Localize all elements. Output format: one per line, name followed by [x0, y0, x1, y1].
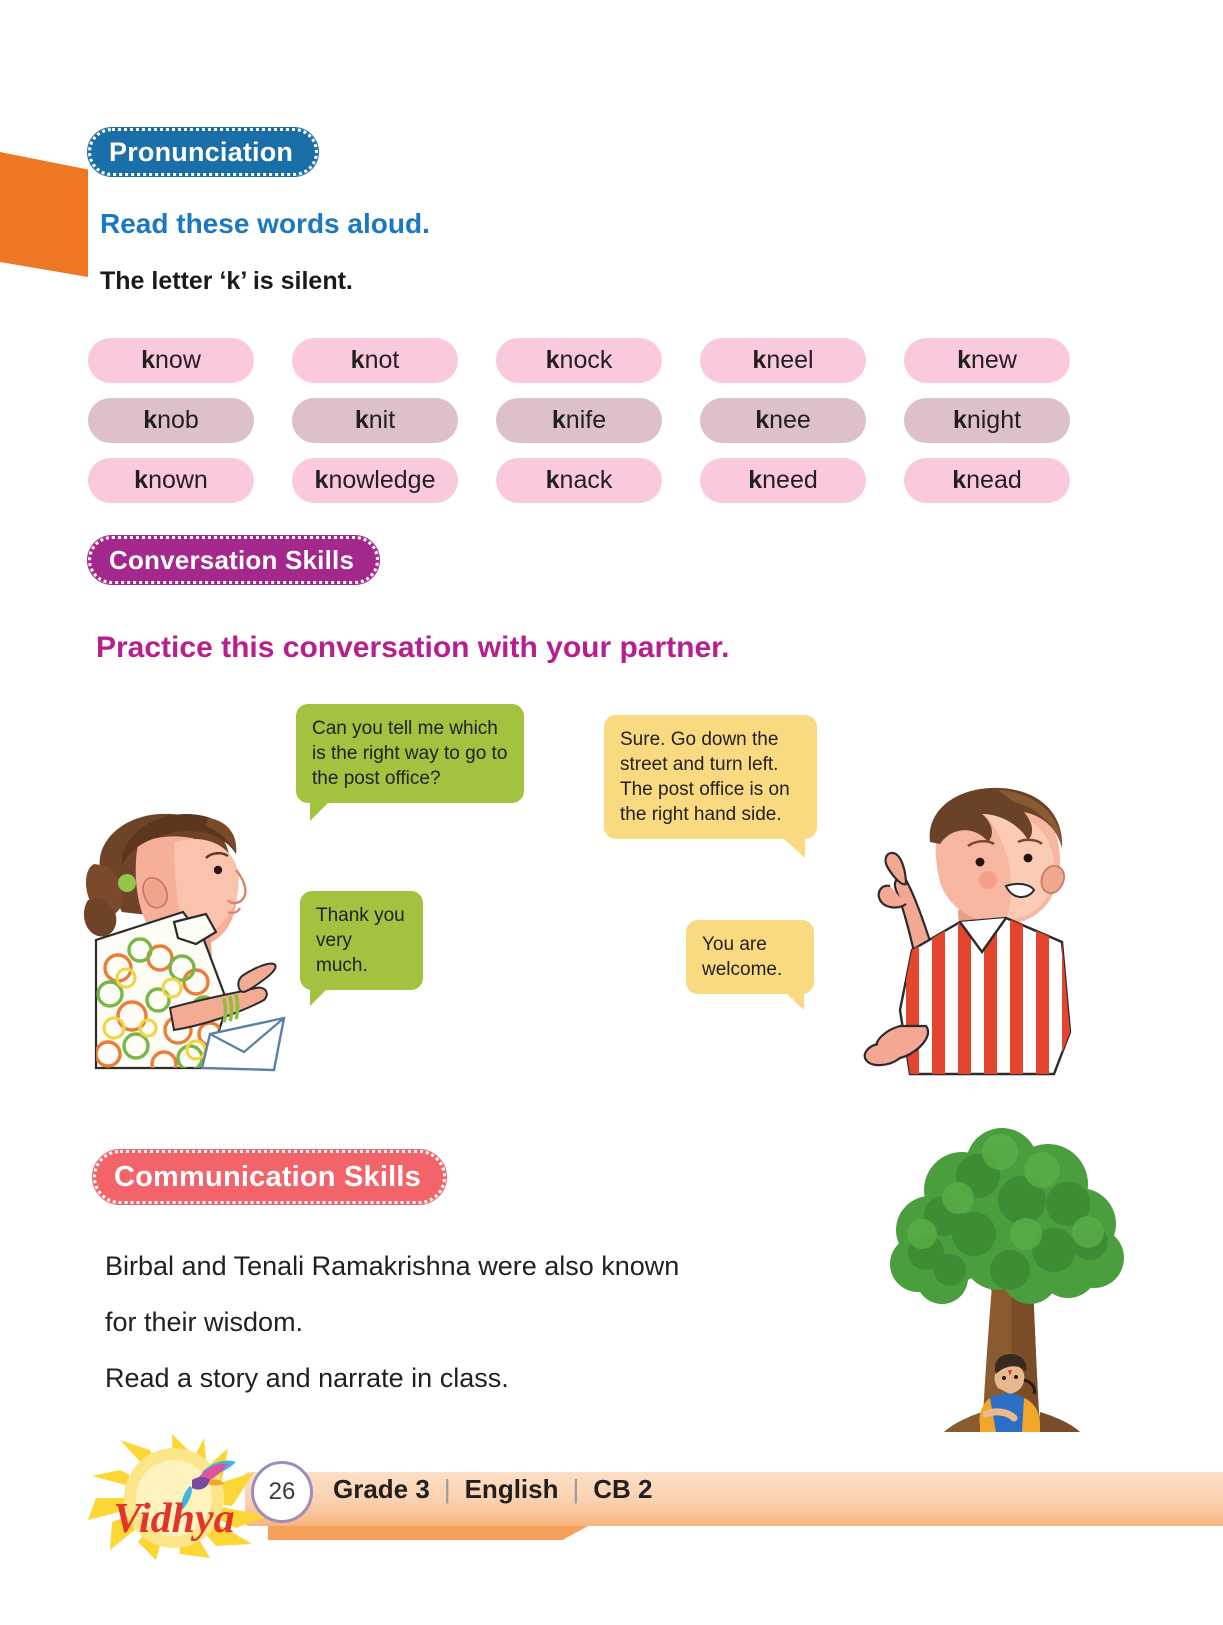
word-remainder: not: [365, 346, 400, 375]
word-remainder: neel: [766, 346, 813, 375]
word-pill[interactable]: knee: [700, 398, 866, 443]
speech-bubble-answer: Sure. Go down the street and turn left. …: [604, 715, 817, 839]
word-pill[interactable]: knit: [292, 398, 458, 443]
communication-line: Read a story and narrate in class.: [105, 1350, 805, 1406]
speech-bubble-welcome: You are welcome.: [686, 920, 814, 994]
vidhya-logo: Vidhya: [86, 1432, 271, 1569]
tree-with-seated-boy-illustration: [882, 1112, 1144, 1439]
conversation-heading: Practice this conversation with your par…: [96, 631, 730, 665]
communication-text: Birbal and Tenali Ramakrishna were also …: [105, 1238, 805, 1406]
pronunciation-heading: Read these words aloud.: [100, 208, 430, 240]
word-pill[interactable]: knife: [496, 398, 662, 443]
word-remainder: night: [967, 406, 1021, 435]
word-pill-grid: know knot knock kneel knew knob knit kni…: [88, 338, 1098, 518]
silent-letter: k: [134, 466, 148, 495]
word-remainder: need: [762, 466, 818, 495]
section-badge-pronunciation: Pronunciation: [88, 128, 318, 176]
boy-pointing-illustration: [848, 782, 1078, 1082]
speech-bubble-welcome-text: You are welcome.: [702, 934, 782, 980]
word-pill[interactable]: knead: [904, 458, 1070, 503]
silent-letter: k: [755, 406, 769, 435]
girl-with-envelope-illustration: [78, 772, 293, 1077]
speech-bubble-tail: [786, 993, 804, 1010]
word-remainder: nown: [148, 466, 208, 495]
word-pill[interactable]: knack: [496, 458, 662, 503]
word-pill[interactable]: knot: [292, 338, 458, 383]
word-pill[interactable]: kneed: [700, 458, 866, 503]
word-pill[interactable]: knight: [904, 398, 1070, 443]
silent-letter: k: [546, 466, 560, 495]
footer-separator: |: [573, 1474, 580, 1505]
silent-letter: k: [752, 346, 766, 375]
word-pill[interactable]: know: [88, 338, 254, 383]
word-remainder: nife: [566, 406, 606, 435]
speech-bubble-ask-text: Can you tell me which is the right way t…: [312, 718, 507, 789]
word-pill[interactable]: knew: [904, 338, 1070, 383]
footer-separator: |: [444, 1474, 451, 1505]
word-remainder: nit: [369, 406, 395, 435]
silent-letter: k: [953, 406, 967, 435]
word-remainder: nack: [560, 466, 613, 495]
page-number: 26: [251, 1461, 313, 1523]
silent-letter: k: [141, 346, 155, 375]
word-remainder: nowledge: [328, 466, 435, 495]
word-remainder: nob: [157, 406, 199, 435]
word-pill-row: knob knit knife knee knight: [88, 398, 1098, 443]
word-pill[interactable]: knob: [88, 398, 254, 443]
section-badge-communication-skills: Communication Skills: [93, 1150, 446, 1204]
footer-grade: Grade 3: [333, 1474, 430, 1505]
speech-bubble-thanks: Thank you very much.: [300, 891, 423, 990]
section-badge-pronunciation-label: Pronunciation: [109, 137, 293, 168]
speech-bubble-ask: Can you tell me which is the right way t…: [296, 704, 524, 803]
section-badge-conversation-skills: Conversation Skills: [88, 536, 379, 584]
silent-letter: k: [952, 466, 966, 495]
silent-letter: k: [552, 406, 566, 435]
word-remainder: now: [155, 346, 201, 375]
footer-subject: English: [465, 1474, 559, 1505]
word-pill[interactable]: kneel: [700, 338, 866, 383]
word-remainder: nee: [769, 406, 811, 435]
pronunciation-subheading: The letter ‘k’ is silent.: [100, 267, 353, 296]
speech-bubble-answer-text: Sure. Go down the street and turn left. …: [620, 729, 790, 825]
speech-bubble-tail: [310, 988, 328, 1006]
word-pill[interactable]: known: [88, 458, 254, 503]
communication-line: for their wisdom.: [105, 1294, 805, 1350]
section-badge-communication-skills-label: Communication Skills: [114, 1161, 421, 1194]
word-pill-row: known knowledge knack kneed knead: [88, 458, 1098, 503]
silent-letter: k: [351, 346, 365, 375]
silent-letter: k: [546, 346, 560, 375]
silent-letter: k: [355, 406, 369, 435]
word-remainder: nead: [966, 466, 1022, 495]
footer-ribbon-shadow: [268, 1526, 588, 1540]
speech-bubble-thanks-text: Thank you very much.: [316, 905, 405, 976]
section-badge-conversation-skills-label: Conversation Skills: [109, 545, 354, 576]
word-remainder: new: [971, 346, 1017, 375]
orange-corner-tab: [0, 152, 88, 277]
silent-letter: k: [143, 406, 157, 435]
silent-letter: k: [748, 466, 762, 495]
communication-line: Birbal and Tenali Ramakrishna were also …: [105, 1238, 805, 1294]
word-pill-row: know knot knock kneel knew: [88, 338, 1098, 383]
speech-bubble-tail: [310, 801, 330, 821]
silent-letter: k: [315, 466, 329, 495]
speech-bubble-tail: [783, 838, 805, 858]
silent-letter: k: [957, 346, 971, 375]
word-remainder: nock: [560, 346, 613, 375]
footer-book: CB 2: [593, 1474, 652, 1505]
word-pill[interactable]: knowledge: [292, 458, 458, 503]
footer-title: Grade 3 | English | CB 2: [333, 1474, 653, 1505]
word-pill[interactable]: knock: [496, 338, 662, 383]
logo-wordmark: Vidhya: [113, 1496, 234, 1542]
